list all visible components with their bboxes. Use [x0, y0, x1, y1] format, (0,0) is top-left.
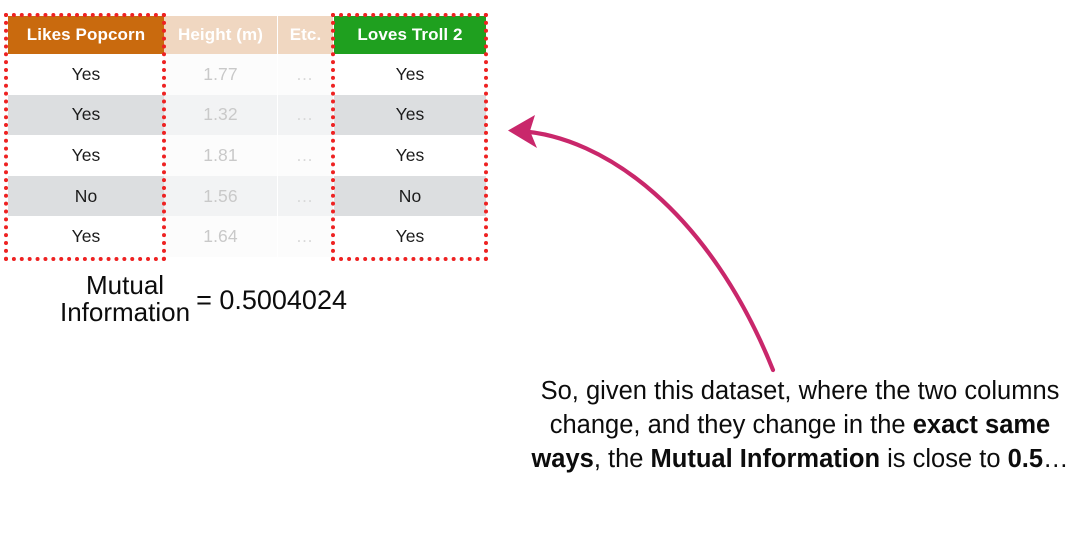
table-row: Yes 1.81 … Yes [8, 135, 486, 176]
caption-part4: … [1043, 445, 1069, 473]
formula-term: Mutual Information [60, 272, 190, 325]
mutual-information-formula: Mutual Information = 0.5004024 [60, 272, 347, 325]
cell-etc: … [278, 176, 334, 217]
cell-likes-popcorn: No [8, 176, 164, 217]
cell-height: 1.56 [164, 176, 278, 217]
table-row: Yes 1.64 … Yes [8, 216, 486, 257]
column-header-likes-popcorn: Likes Popcorn [8, 16, 164, 54]
cell-height: 1.81 [164, 135, 278, 176]
formula-term-line2: Information [60, 299, 190, 326]
caption-text: So, given this dataset, where the two co… [530, 375, 1070, 477]
caption-part3: is close to [880, 445, 1008, 473]
table-row: Yes 1.32 … Yes [8, 95, 486, 136]
cell-likes-popcorn: Yes [8, 95, 164, 136]
column-header-loves-troll-2: Loves Troll 2 [334, 16, 486, 54]
cell-etc: … [278, 135, 334, 176]
cell-likes-popcorn: Yes [8, 216, 164, 257]
cell-height: 1.64 [164, 216, 278, 257]
caption-bold-value: 0.5 [1008, 445, 1043, 473]
table-header-row: Likes Popcorn Height (m) Etc. Loves Trol… [8, 16, 486, 54]
cell-loves-troll-2: Yes [334, 95, 486, 136]
cell-etc: … [278, 54, 334, 95]
cell-loves-troll-2: Yes [334, 54, 486, 95]
arrow-curve [519, 131, 773, 370]
cell-loves-troll-2: Yes [334, 135, 486, 176]
curved-arrow-icon [495, 108, 795, 383]
cell-likes-popcorn: Yes [8, 135, 164, 176]
cell-height: 1.32 [164, 95, 278, 136]
column-header-height: Height (m) [164, 16, 278, 54]
table-row: Yes 1.77 … Yes [8, 54, 486, 95]
table-row: No 1.56 … No [8, 176, 486, 217]
cell-etc: … [278, 95, 334, 136]
cell-etc: … [278, 216, 334, 257]
formula-value: = 0.5004024 [196, 285, 347, 316]
caption-bold-mutual-information: Mutual Information [651, 445, 880, 473]
cell-loves-troll-2: Yes [334, 216, 486, 257]
dataset-table: Likes Popcorn Height (m) Etc. Loves Trol… [8, 16, 486, 259]
formula-term-line1: Mutual [86, 272, 164, 299]
caption-part2: , the [594, 445, 651, 473]
column-header-etc: Etc. [278, 16, 334, 54]
cell-height: 1.77 [164, 54, 278, 95]
cell-likes-popcorn: Yes [8, 54, 164, 95]
cell-loves-troll-2: No [334, 176, 486, 217]
